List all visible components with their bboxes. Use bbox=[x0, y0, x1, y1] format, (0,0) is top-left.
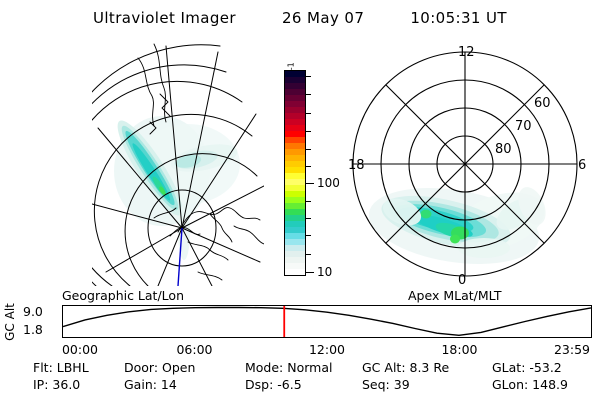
gc-alt-axis-label: GC Alt bbox=[3, 298, 17, 346]
colorbar-minor-tick-9 bbox=[306, 254, 311, 255]
colorbar-major-tick-10 bbox=[306, 272, 314, 273]
status-row-2: IP: 36.0Gain: 14Dsp: -6.5Seq: 39GLon: 14… bbox=[0, 377, 600, 395]
mlat-label-80: 80 bbox=[495, 142, 512, 157]
geographic-projection-panel[interactable] bbox=[92, 36, 264, 286]
time-axis: 00:0006:0012:0018:0023:59 bbox=[0, 340, 600, 358]
status-glon: GLon: 148.9 bbox=[492, 377, 568, 392]
status-gc-alt: GC Alt: 8.3 Re bbox=[362, 360, 449, 375]
colorbar-tick-label-10: 10 bbox=[317, 265, 332, 279]
time-tick-0000: 00:00 bbox=[62, 342, 98, 357]
colorbar-minor-tick-1 bbox=[306, 94, 311, 95]
status-gain: Gain: 14 bbox=[124, 377, 177, 392]
status-glat: GLat: -53.2 bbox=[492, 360, 562, 375]
orbit-altitude-plot[interactable] bbox=[62, 305, 592, 338]
status-door: Door: Open bbox=[124, 360, 195, 375]
colorbar-minor-tick-6 bbox=[306, 201, 311, 202]
mlat-label-70: 70 bbox=[515, 119, 532, 134]
colorbar-major-tick-100 bbox=[306, 183, 314, 184]
mlt-label-0: 0 bbox=[458, 273, 466, 286]
colorbar-minor-tick-0 bbox=[306, 76, 311, 77]
colorbar-ticks: 10010 bbox=[306, 70, 336, 276]
mlt-label-12: 12 bbox=[458, 45, 475, 60]
apex-panel-title: Apex MLat/MLT bbox=[408, 288, 502, 303]
colorbar-swatch-33 bbox=[285, 269, 305, 275]
colorbar-minor-tick-4 bbox=[306, 149, 311, 150]
mlat-label-60: 60 bbox=[534, 96, 551, 111]
strip-titles: Geographic Lat/Lon Apex MLat/MLT bbox=[0, 288, 600, 304]
orbit-altitude-curve-svg bbox=[63, 306, 591, 337]
geographic-panel-title: Geographic Lat/Lon bbox=[62, 288, 184, 303]
mlt-label-6: 6 bbox=[578, 158, 586, 173]
mlt-label-18: 18 bbox=[348, 158, 365, 173]
status-flt: Flt: LBHL bbox=[33, 360, 89, 375]
colorbar-gradient bbox=[284, 70, 306, 276]
orbit-altitude-curve bbox=[63, 308, 591, 336]
time-tick-1200: 12:00 bbox=[309, 342, 345, 357]
instrument-title: Ultraviolet Imager bbox=[93, 9, 236, 27]
colorbar-minor-tick-3 bbox=[306, 131, 311, 132]
gc-alt-tick-bottom: 1.8 bbox=[23, 322, 43, 337]
gc-alt-tick-top: 9.0 bbox=[23, 304, 43, 319]
time-tick-2359: 23:59 bbox=[554, 342, 590, 357]
colorbar-minor-tick-8 bbox=[306, 235, 311, 236]
mlat-labels: 60 70 80 bbox=[495, 96, 551, 157]
colorbar-minor-tick-2 bbox=[306, 113, 311, 114]
time-tick-0600: 06:00 bbox=[176, 342, 212, 357]
time-tick-1800: 18:00 bbox=[441, 342, 477, 357]
colorbar-minor-tick-5 bbox=[306, 166, 311, 167]
apex-grid-spokes bbox=[353, 52, 577, 276]
status-footer: Flt: LBHLDoor: OpenMode: NormalGC Alt: 8… bbox=[0, 360, 600, 400]
colorbar-minor-tick-7 bbox=[306, 218, 311, 219]
apex-mlat-mlt-panel[interactable]: 12 18 6 0 60 70 80 bbox=[336, 36, 594, 286]
observation-date: 26 May 07 bbox=[282, 9, 364, 27]
status-dsp: Dsp: -6.5 bbox=[245, 377, 302, 392]
status-row-1: Flt: LBHLDoor: OpenMode: NormalGC Alt: 8… bbox=[0, 360, 600, 378]
status-ip: IP: 36.0 bbox=[33, 377, 80, 392]
status-mode: Mode: Normal bbox=[245, 360, 332, 375]
orbit-altitude-strip: GC Alt 9.0 1.8 bbox=[0, 304, 600, 340]
status-seq: Seq: 39 bbox=[362, 377, 410, 392]
observation-time: 10:05:31 UT bbox=[410, 9, 507, 27]
colorbar[interactable]: photon cm-2s-1 10010 bbox=[266, 36, 336, 286]
panels-area: photon cm-2s-1 10010 bbox=[0, 36, 600, 286]
ultraviolet-imager-window: Ultraviolet Imager 26 May 07 10:05:31 UT bbox=[0, 0, 600, 400]
apex-aurora-emission bbox=[363, 177, 551, 275]
